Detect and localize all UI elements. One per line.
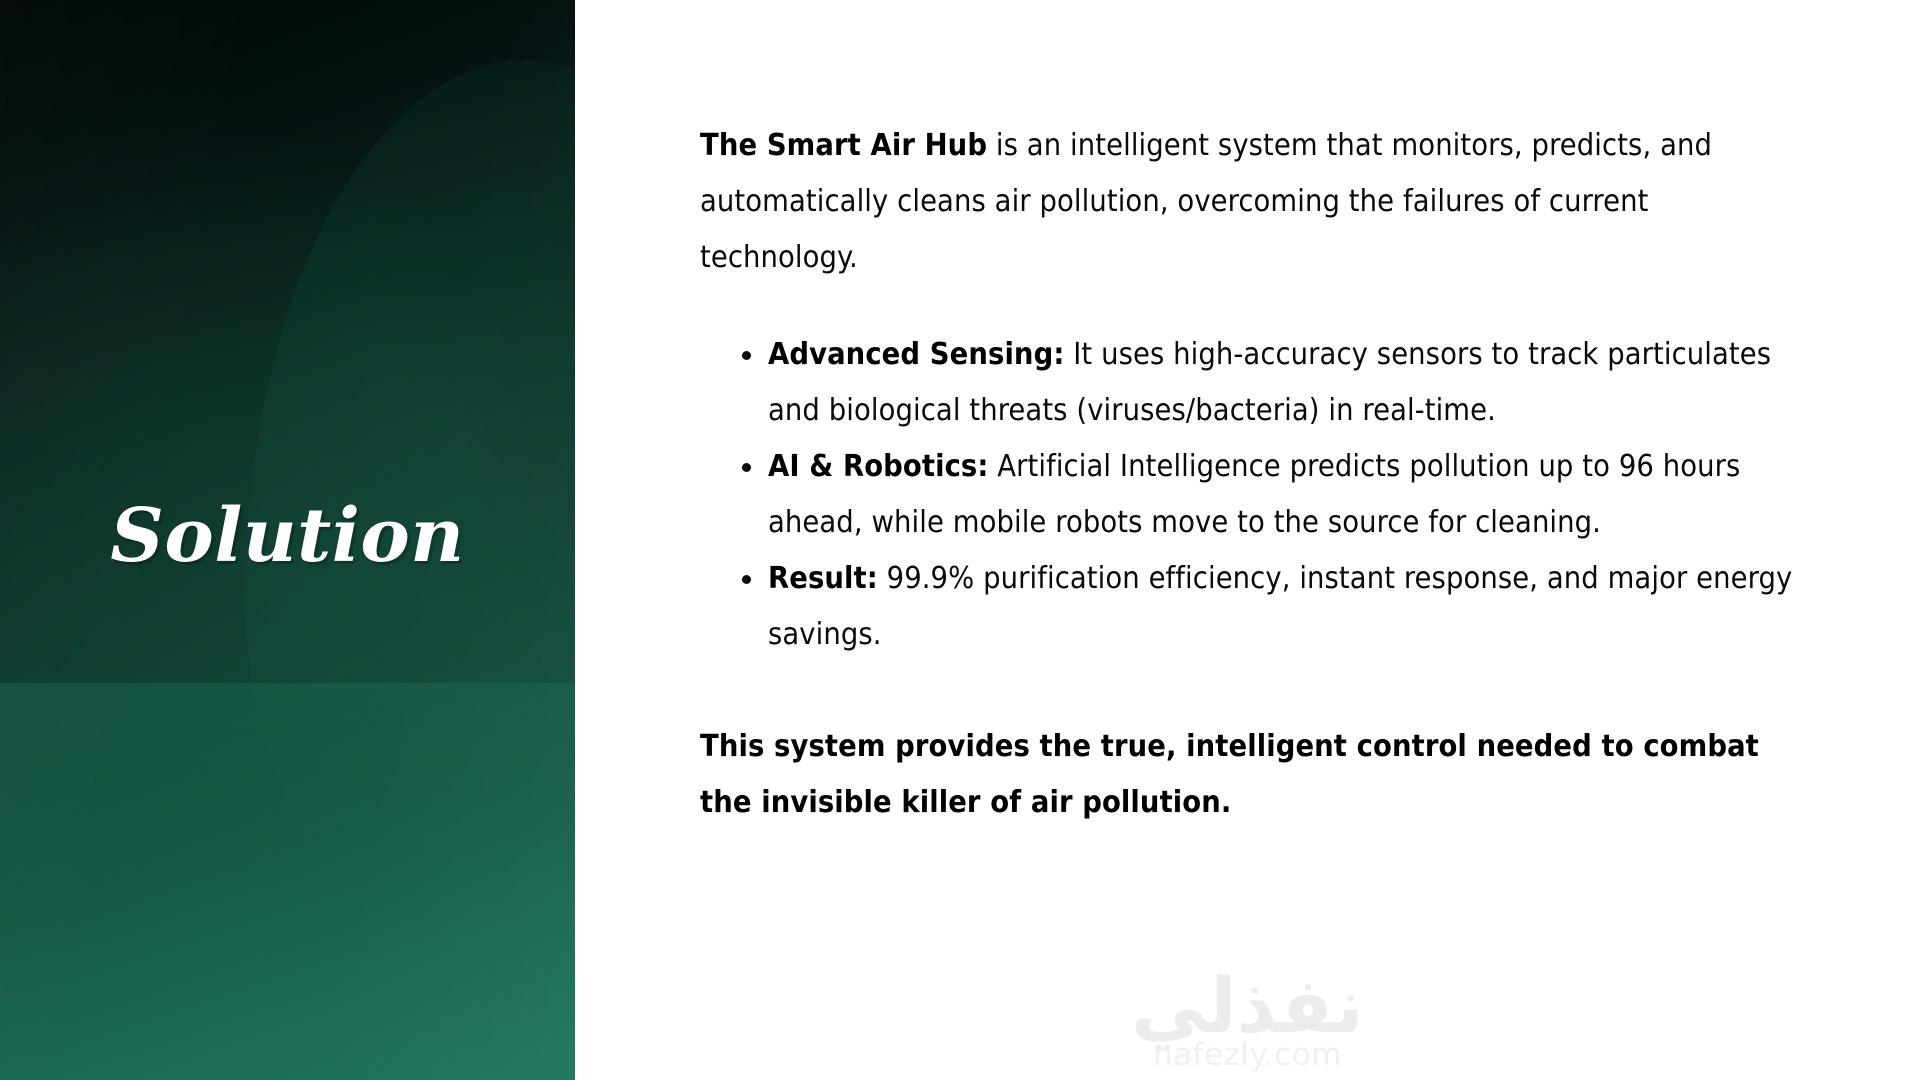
bullet-dot-icon [742, 463, 751, 472]
watermark-arabic-logo: نفذلي [1033, 969, 1463, 1043]
bullet-lead-in: AI & Robotics: [768, 449, 988, 484]
bullet-dot-icon [742, 351, 751, 360]
list-item: Result: 99.9% purification efficiency, i… [700, 551, 1815, 663]
bullet-dot-icon [742, 575, 751, 584]
watermark: نفذلي nafezly.com [1033, 969, 1463, 1072]
slide-content-panel: The Smart Air Hub is an intelligent syst… [575, 0, 1920, 1080]
intro-lead-in: The Smart Air Hub [700, 128, 987, 163]
page-title: Solution [110, 499, 464, 573]
slide-title-container: Solution [0, 0, 575, 1080]
feature-bullet-list: Advanced Sensing: It uses high-accuracy … [700, 327, 1815, 663]
watermark-domain: nafezly.com [1033, 1039, 1463, 1072]
bullet-lead-in: Advanced Sensing: [768, 337, 1064, 372]
list-item: AI & Robotics: Artificial Intelligence p… [700, 439, 1815, 551]
presentation-slide: Solution The Smart Air Hub is an intelli… [0, 0, 1920, 1080]
bullet-text: 99.9% purification efficiency, instant r… [768, 561, 1792, 652]
list-item: Advanced Sensing: It uses high-accuracy … [700, 327, 1815, 439]
intro-paragraph: The Smart Air Hub is an intelligent syst… [700, 118, 1815, 286]
content-body: The Smart Air Hub is an intelligent syst… [700, 118, 1815, 831]
closing-paragraph: This system provides the true, intellige… [700, 719, 1815, 831]
slide-title-panel: Solution [0, 0, 575, 1080]
bullet-lead-in: Result: [768, 561, 878, 596]
